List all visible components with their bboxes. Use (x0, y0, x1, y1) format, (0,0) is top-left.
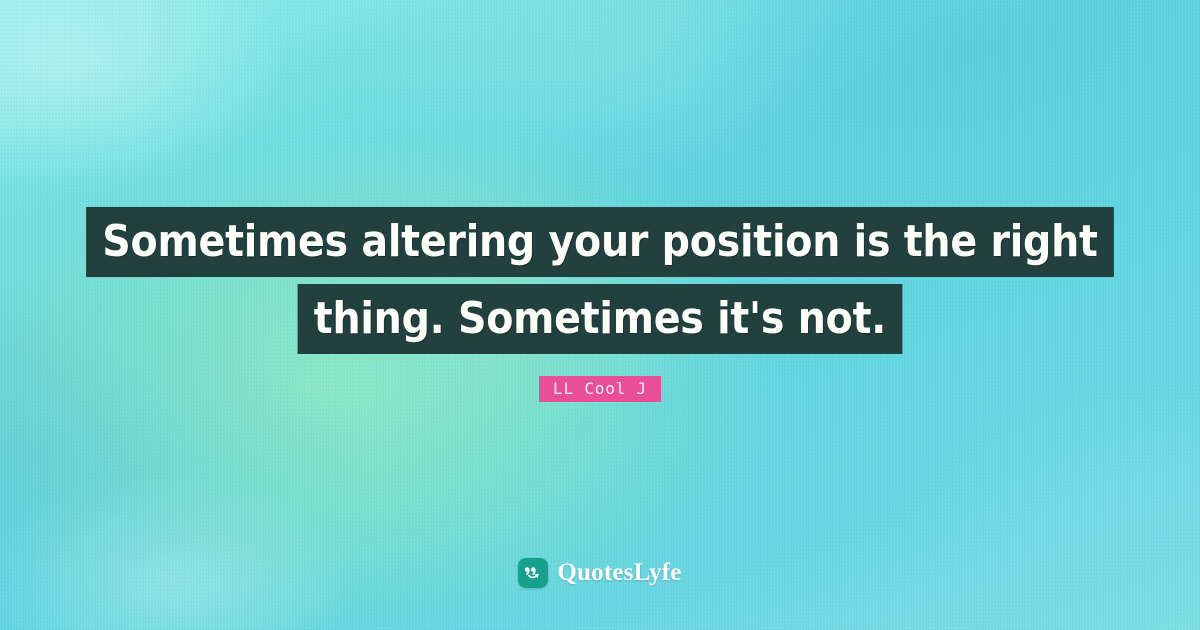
quote-line-2: thing. Sometimes it's not. (298, 284, 903, 354)
author-name-badge: LL Cool J (539, 376, 661, 402)
quote-text-block: Sometimes altering your position is the … (0, 207, 1200, 354)
quote-line-1: Sometimes altering your position is the … (86, 207, 1114, 277)
author-attribution: LL Cool J (0, 376, 1200, 402)
brand-logo: QuotesLyfe (0, 558, 1200, 588)
quote-mark-icon (518, 558, 548, 588)
quote-poster: Sometimes altering your position is the … (0, 0, 1200, 630)
brand-name: QuotesLyfe (557, 559, 681, 587)
